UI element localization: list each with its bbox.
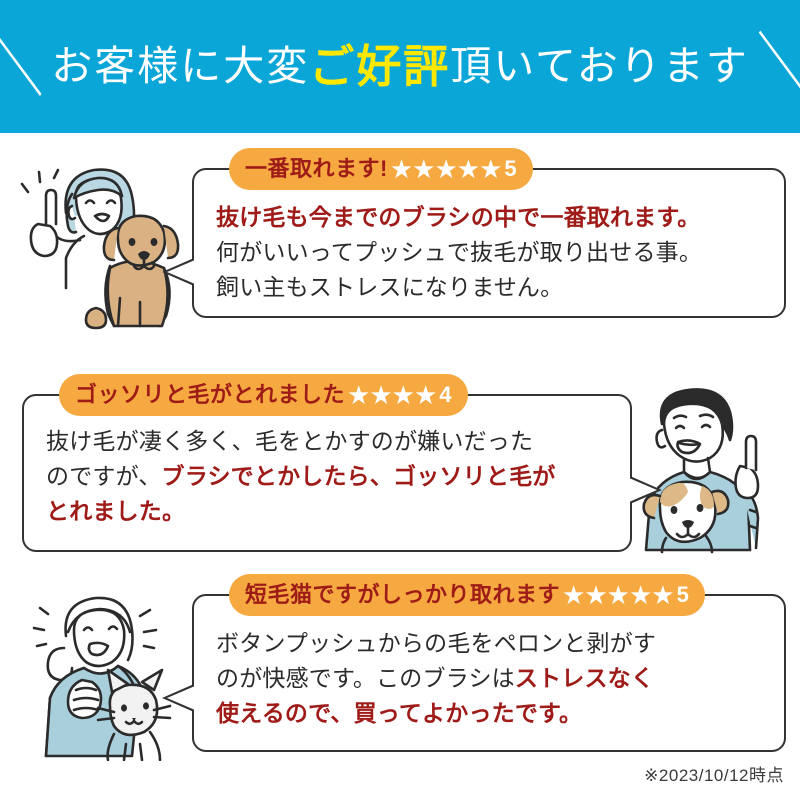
review-block-1: 一番取れます! ★★★★★ 5 抜け毛も今までのブラシの中で一番取れます。何がい…	[0, 150, 800, 370]
review-body-1: 抜け毛も今までのブラシの中で一番取れます。何がいいってプッシュで抜毛が取り出せる…	[216, 200, 766, 305]
header-inner: ＼ お客様に大変 ご好評 頂いております ／	[0, 41, 800, 93]
review-text-line: 抜け毛が凄く多く、毛をとかすのが嫌いだった	[46, 424, 612, 459]
review-testimonial-page: ＼ お客様に大変 ご好評 頂いております ／	[0, 0, 800, 800]
review-text-line: 飼い主もストレスになりません。	[216, 270, 766, 305]
rating-number-3: 5	[677, 584, 689, 606]
review-title-1: 一番取れます!	[245, 158, 388, 180]
plain-text: 飼い主もストレスになりません。	[216, 274, 563, 300]
star-icon: ★	[414, 382, 436, 408]
bubble-tail-fill	[629, 478, 657, 502]
review-title-badge-2: ゴッソリと毛がとれました ★★★★ 4	[59, 374, 468, 416]
star-icon: ★	[607, 582, 629, 608]
review-text-line: 使えるので、買ってよかったです。	[216, 696, 766, 731]
review-text-line: のですが、ブラシでとかしたら、ゴッソリと毛が	[46, 459, 612, 494]
star-icon: ★	[629, 582, 651, 608]
star-icon: ★	[369, 382, 391, 408]
slash-right-decoration: ／	[757, 31, 800, 101]
plain-text: ボタンプッシュからの毛をペロンと剥がす	[216, 630, 656, 656]
plain-text: のが快感です。このブラシは	[216, 665, 515, 691]
plain-text: 何がいいってプッシュで抜毛が取り出せる事。	[216, 239, 702, 265]
emphasized-text: ブラシでとかしたら、ゴッソリと毛が	[162, 463, 556, 489]
bubble-tail-fill	[167, 686, 195, 710]
review-title-2: ゴッソリと毛がとれました	[75, 384, 345, 406]
star-icon: ★	[584, 582, 606, 608]
rating-number-2: 4	[439, 384, 451, 406]
review-bubble-3: 短毛猫ですがしっかり取れます ★★★★★ 5 ボタンプッシュからの毛をペロンと剥…	[192, 594, 786, 752]
bubble-tail-fill	[167, 260, 195, 284]
review-title-badge-1: 一番取れます! ★★★★★ 5	[229, 148, 533, 190]
star-icon: ★	[392, 382, 414, 408]
emphasized-text: 抜け毛も今までのブラシの中で一番取れます。	[216, 204, 700, 230]
review-bubble-2: ゴッソリと毛がとれました ★★★★ 4 抜け毛が凄く多く、毛をとかすのが嫌いだっ…	[22, 394, 632, 552]
star-icon: ★	[562, 582, 584, 608]
man-with-dog-illustration	[622, 380, 792, 555]
star-icon: ★	[434, 156, 456, 182]
review-block-2: ゴッソリと毛がとれました ★★★★ 4 抜け毛が凄く多く、毛をとかすのが嫌いだっ…	[0, 378, 800, 573]
header-text-after: 頂いております	[450, 46, 749, 87]
star-rating-2: ★★★★	[347, 382, 436, 408]
star-rating-3: ★★★★★	[562, 582, 674, 608]
woman-with-cat-illustration	[14, 586, 184, 761]
rating-number-1: 5	[504, 158, 516, 180]
footnote-date: ※2023/10/12時点	[644, 761, 784, 786]
header-banner: ＼ お客様に大変 ご好評 頂いております ／	[0, 0, 800, 133]
review-body-3: ボタンプッシュからの毛をペロンと剥がすのが快感です。このブラシはストレスなく使え…	[216, 626, 766, 731]
review-text-line: 抜け毛も今までのブラシの中で一番取れます。	[216, 200, 766, 235]
star-icon: ★	[390, 156, 412, 182]
plain-text: 抜け毛が凄く多く、毛をとかすのが嫌いだった	[46, 428, 533, 454]
star-icon: ★	[479, 156, 501, 182]
review-text-line: 何がいいってプッシュで抜毛が取り出せる事。	[216, 235, 766, 270]
review-title-3: 短毛猫ですがしっかり取れます	[245, 584, 560, 606]
review-block-3: 短毛猫ですがしっかり取れます ★★★★★ 5 ボタンプッシュからの毛をペロンと剥…	[0, 578, 800, 768]
slash-left-decoration: ＼	[0, 31, 43, 101]
review-title-badge-3: 短毛猫ですがしっかり取れます ★★★★★ 5	[229, 574, 705, 616]
star-icon: ★	[412, 156, 434, 182]
emphasized-text: とれました。	[46, 498, 185, 524]
star-icon: ★	[457, 156, 479, 182]
emphasized-text: 使えるので、買ってよかったです。	[216, 700, 582, 726]
woman-with-dog-illustration	[14, 158, 184, 333]
review-bubble-1: 一番取れます! ★★★★★ 5 抜け毛も今までのブラシの中で一番取れます。何がい…	[192, 168, 786, 318]
star-rating-1: ★★★★★	[390, 156, 502, 182]
emphasized-text: ストレスなく	[515, 665, 654, 691]
review-body-2: 抜け毛が凄く多く、毛をとかすのが嫌いだったのですが、ブラシでとかしたら、ゴッソリ…	[46, 424, 612, 529]
header-text-accent: ご好評	[309, 44, 450, 89]
review-text-line: ボタンプッシュからの毛をペロンと剥がす	[216, 626, 766, 661]
review-text-line: のが快感です。このブラシはストレスなく	[216, 661, 766, 696]
star-icon: ★	[651, 582, 673, 608]
plain-text: のですが、	[46, 463, 162, 489]
header-text-before: お客様に大変	[51, 46, 309, 87]
star-icon: ★	[347, 382, 369, 408]
review-text-line: とれました。	[46, 494, 612, 529]
